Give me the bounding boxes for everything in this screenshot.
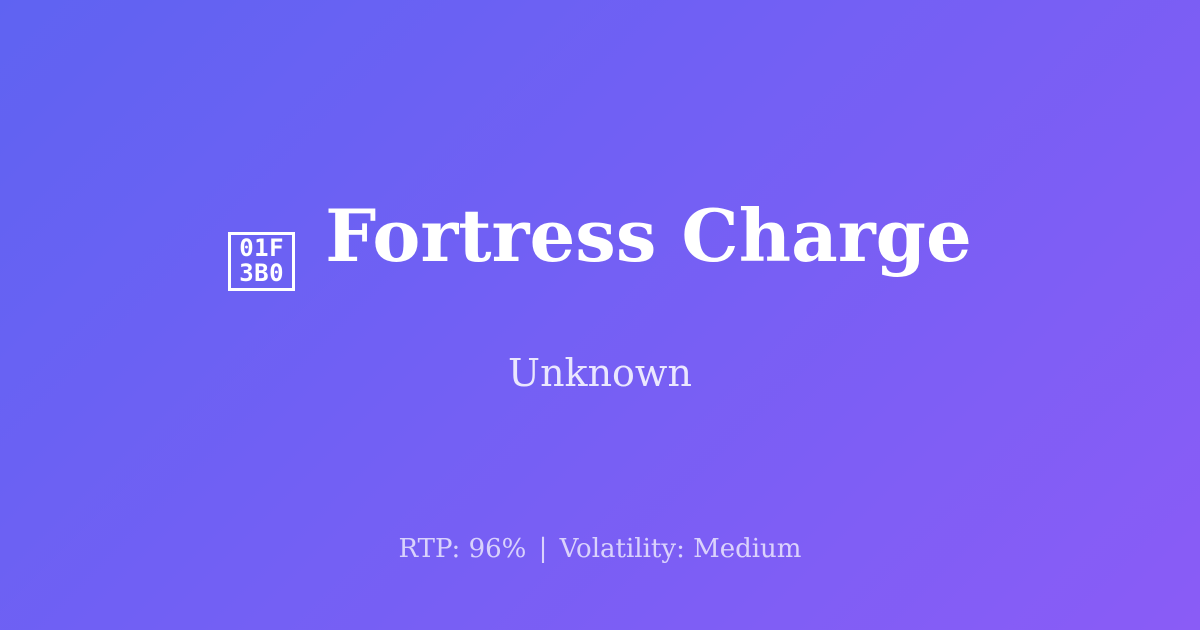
tofu-codepoint-row-bottom: 3B0 (239, 261, 284, 286)
rtp-value: RTP: 96% (399, 534, 527, 564)
title-row: 01F 3B0 Fortress Charge (228, 200, 972, 296)
tofu-codepoint-row-top: 01F (239, 236, 284, 261)
og-card: 01F 3B0 Fortress Charge Unknown RTP: 96%… (0, 0, 1200, 630)
volatility-value: Volatility: Medium (560, 534, 802, 564)
game-meta-line: RTP: 96% | Volatility: Medium (0, 536, 1200, 562)
meta-separator: | (535, 534, 552, 564)
game-subtitle: Unknown (508, 354, 692, 392)
slot-machine-icon: 01F 3B0 (228, 232, 295, 291)
page-title: Fortress Charge (325, 200, 972, 272)
